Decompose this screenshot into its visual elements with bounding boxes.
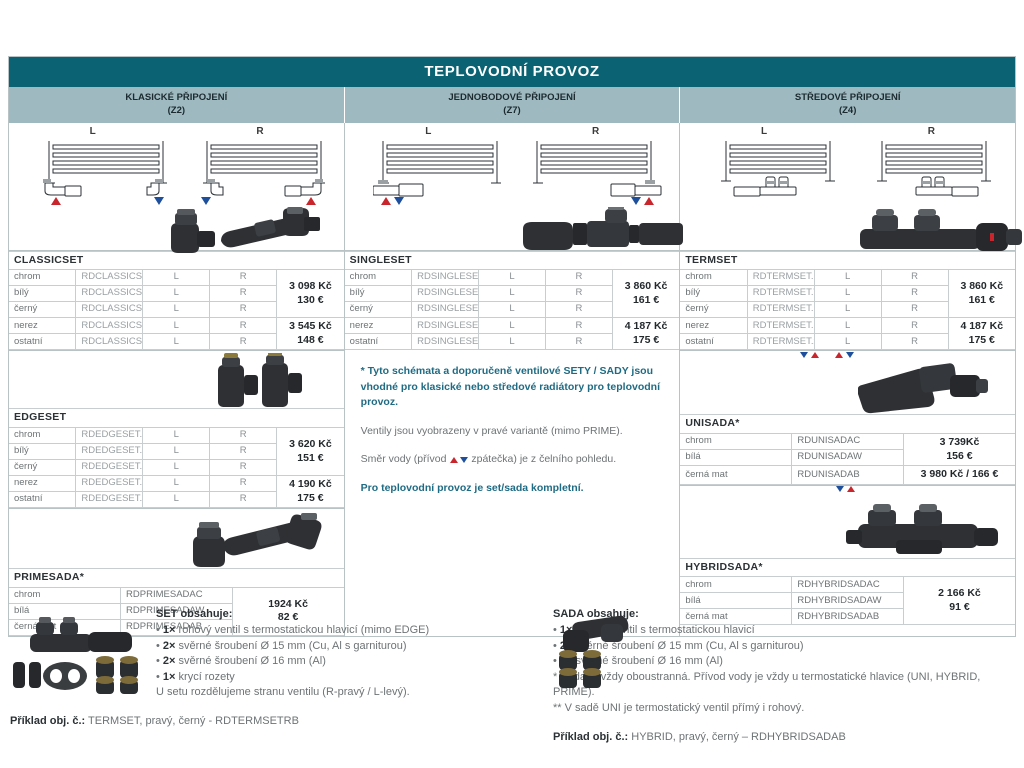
notes-block: * Tyto schémata a doporučeně ventilové S…	[345, 350, 680, 503]
row-color: černý	[9, 302, 76, 318]
column-classic: L R	[9, 123, 345, 636]
row-right: R	[210, 492, 277, 508]
row-code: RDUNISADAW	[792, 450, 904, 466]
item-text: rohový ventil s termostatickou hlavicí (…	[175, 624, 429, 636]
price-czk: 2 166 Kč	[938, 587, 981, 599]
product-photo-band-primesada	[9, 508, 344, 568]
row-color: nerez	[345, 318, 412, 334]
product-photo-classicset	[159, 207, 339, 260]
price-singleset-2: 4 187 Kč 175 €	[612, 318, 679, 350]
table-row: nerez RDEDGESET.SS L R 4 190 Kč 175 €	[9, 476, 344, 492]
column-header-central-label: STŘEDOVÉ PŘIPOJENÍ	[680, 92, 1015, 105]
row-color: nerez	[9, 476, 76, 492]
row-right: R	[545, 286, 612, 302]
triangle-up-red-icon	[811, 352, 819, 358]
row-color: chrom	[680, 270, 747, 286]
price-eur: 175 €	[969, 334, 995, 346]
row-color: ostatní	[9, 492, 76, 508]
row-right: R	[210, 286, 277, 302]
flow-arrows-hybridsada-top	[836, 486, 855, 492]
triangle-down-blue-icon	[631, 197, 641, 205]
flow-arrow-classic-left-return	[154, 197, 164, 205]
row-code: RDTERMSET.xx	[747, 334, 814, 350]
row-right: R	[210, 318, 277, 334]
row-color: bílý	[345, 286, 412, 302]
radiator-diagram-central-right	[872, 137, 997, 197]
main-table: TEPLOVODNÍ PROVOZ KLASICKÉ PŘIPOJENÍ (Z2…	[8, 56, 1016, 637]
schematic-central: L R	[680, 123, 1015, 251]
example-label: Příklad obj. č.:	[553, 731, 628, 743]
list-item: • 1× krycí rozety	[156, 670, 553, 686]
triangle-down-blue-icon	[154, 197, 164, 205]
row-right: R	[545, 318, 612, 334]
price-table-edgeset: EDGESET chrom RDEDGESET.C L R 3 620 Kč 1…	[9, 408, 344, 508]
row-code: RDCLASSICSET.SS	[76, 318, 143, 334]
flow-arrows-single-right	[631, 197, 654, 205]
footer-set-title: SET obsahuje:	[156, 608, 553, 620]
column-header-single-code: (Z7)	[345, 105, 680, 118]
product-photo-primesada	[187, 513, 327, 574]
price-edgeset-1: 3 620 Kč 151 €	[277, 428, 344, 476]
note-final: Pro teplovodní provoz je set/sada komple…	[361, 481, 666, 496]
column-single: L R	[345, 123, 681, 636]
price-sheet-page: TEPLOVODNÍ PROVOZ KLASICKÉ PŘIPOJENÍ (Z2…	[0, 0, 1024, 768]
row-left: L	[814, 334, 881, 350]
price-czk: 3 098 Kč	[289, 280, 332, 292]
price-table-classicset: CLASSICSET chrom RDCLASSICSET.C L R 3 09…	[9, 251, 344, 351]
row-left: L	[814, 302, 881, 318]
page-title: TEPLOVODNÍ PROVOZ	[9, 57, 1015, 87]
table-row: nerez RDCLASSICSET.SS L R 3 545 Kč 148 €	[9, 318, 344, 334]
table-row: chrom RDSINGLESET.C L R 3 860 Kč 161 €	[345, 270, 680, 286]
price-czk: 3 739Kč	[940, 436, 980, 448]
triangle-up-red-icon	[51, 197, 61, 205]
price-czk: 4 187 Kč	[625, 320, 668, 332]
item-text: svěrné šroubení Ø 15 mm (Cu, Al s garnit…	[175, 640, 406, 652]
row-right: R	[881, 286, 948, 302]
row-code: RDSINGLESET.B	[412, 302, 479, 318]
row-code: RDCLASSICSET.W	[76, 286, 143, 302]
triangle-down-blue-icon	[846, 352, 854, 358]
triangle-down-blue-icon	[460, 457, 468, 463]
row-color: nerez	[9, 318, 76, 334]
item-text: krycí rozety	[175, 671, 234, 683]
product-photo-edgeset	[204, 353, 314, 416]
footer-set-example: Příklad obj. č.: TERMSET, pravý, černý -…	[10, 715, 553, 727]
note-flow-direction-suffix: zpátečka) je z čelního pohledu.	[471, 453, 616, 465]
schematic-single-left-label: L	[345, 126, 512, 137]
radiator-diagram-classic-right	[197, 137, 327, 199]
row-code: RDEDGESET.B	[76, 460, 143, 476]
row-left: L	[814, 318, 881, 334]
footer-set-list: • 1× rohový ventil s termostatickou hlav…	[156, 623, 553, 701]
note-flow-direction: Směr vody (přívod zpátečka) je z čelního…	[361, 452, 666, 467]
row-code: RDCLASSICSET.xx	[76, 334, 143, 350]
row-right: R	[210, 444, 277, 460]
radiator-diagram-single-right	[527, 137, 663, 197]
price-edgeset-2: 4 190 Kč 175 €	[277, 476, 344, 508]
product-photo-hybridsada	[840, 500, 1000, 563]
table-row: nerez RDTERMSET.SS L R 4 187 Kč 175 €	[680, 318, 1015, 334]
footer-sada-note2: ** V sadě UNI je termostatický ventil př…	[553, 701, 1016, 717]
row-color: ostatní	[345, 334, 412, 350]
column-header-classic: KLASICKÉ PŘIPOJENÍ (Z2)	[9, 87, 345, 123]
price-czk: 4 187 Kč	[960, 320, 1003, 332]
price-classicset-2: 3 545 Kč 148 €	[277, 318, 344, 350]
price-unisada-black: 3 980 Kč / 166 €	[903, 466, 1015, 485]
row-right: R	[210, 460, 277, 476]
footer-set-tail: U setu rozdělujeme stranu ventilu (R-pra…	[156, 685, 553, 701]
price-termset-1: 3 860 Kč 161 €	[948, 270, 1015, 318]
item-qty: 2×	[163, 655, 176, 667]
list-item: • 2× svěrné šroubení Ø 15 mm (Cu, Al s g…	[156, 639, 553, 655]
footer-columns: SET obsahuje: • 1× rohový ventil s termo…	[8, 608, 1016, 743]
table-row: chrom RDCLASSICSET.C L R 3 098 Kč 130 €	[9, 270, 344, 286]
schematic-central-left-label: L	[680, 126, 847, 137]
radiator-diagram-single-left	[373, 137, 503, 197]
row-color: bílý	[9, 444, 76, 460]
row-code: RDTERMSET.SS	[747, 318, 814, 334]
row-code: RDUNISADAC	[792, 434, 904, 450]
row-color: černá mat	[680, 466, 792, 485]
row-right: R	[545, 334, 612, 350]
table-row: nerez RDSINGLESET.SS L R 4 187 Kč 175 €	[345, 318, 680, 334]
row-color: chrom	[680, 434, 792, 450]
price-eur: 151 €	[297, 452, 323, 464]
price-czk: 3 545 Kč	[289, 320, 332, 332]
schematic-single: L R	[345, 123, 680, 251]
row-code: RDCLASSICSET.B	[76, 302, 143, 318]
footer-set-text: SET obsahuje: • 1× rohový ventil s termo…	[156, 608, 553, 701]
triangle-down-blue-icon	[836, 486, 844, 492]
row-code: RDSINGLESET.W	[412, 286, 479, 302]
row-code: RDUNISADAB	[792, 466, 904, 485]
price-czk: 4 190 Kč	[289, 478, 332, 490]
row-right: R	[545, 270, 612, 286]
row-color: chrom	[9, 428, 76, 444]
item-qty: 1×	[163, 624, 176, 636]
schematic-single-right-label: R	[512, 126, 679, 137]
row-left: L	[479, 302, 546, 318]
price-unisada: 3 739Kč 156 €	[903, 434, 1015, 466]
price-eur: 156 €	[946, 450, 972, 462]
column-header-classic-code: (Z2)	[9, 105, 344, 118]
row-color: chrom	[680, 577, 792, 593]
row-color: ostatní	[680, 334, 747, 350]
row-color: bílá	[680, 450, 792, 466]
price-termset-2: 4 187 Kč 175 €	[948, 318, 1015, 350]
product-photo-footer-set	[10, 610, 148, 701]
table-row: chrom RDPRIMESADAC 1924 Kč 82 €	[9, 587, 344, 603]
footer-sada-example: Příklad obj. č.: HYBRID, pravý, černý – …	[553, 731, 1016, 743]
footer-sada: SADA obsahuje: • 1× rohový ventil s term…	[553, 608, 1016, 743]
row-code: RDEDGESET.C	[76, 428, 143, 444]
triangle-up-red-icon	[644, 197, 654, 205]
row-color: bílá	[680, 593, 792, 609]
row-right: R	[881, 270, 948, 286]
row-left: L	[143, 460, 210, 476]
row-right: R	[881, 302, 948, 318]
flow-arrow-classic-left-supply	[51, 197, 61, 205]
row-right: R	[881, 318, 948, 334]
row-left: L	[143, 286, 210, 302]
product-photo-band-hybridsada	[680, 485, 1015, 558]
row-left: L	[814, 286, 881, 302]
radiator-diagram-central-left	[716, 137, 841, 197]
row-code: RDSINGLESET.SS	[412, 318, 479, 334]
row-code: RDTERMSET.B	[747, 302, 814, 318]
item-qty: 1×	[163, 671, 176, 683]
column-header-single-label: JEDNOBODOVÉ PŘIPOJENÍ	[345, 92, 680, 105]
price-table-unisada: UNISADA* chrom RDUNISADAC 3 739Kč 156 € …	[680, 414, 1015, 484]
item-qty: 2×	[163, 640, 176, 652]
price-classicset-1: 3 098 Kč 130 €	[277, 270, 344, 318]
price-eur: 175 €	[297, 492, 323, 504]
row-code: RDTERMSET.W	[747, 286, 814, 302]
price-eur: 161 €	[969, 294, 995, 306]
row-code: RDSINGLESET.xx	[412, 334, 479, 350]
triangle-down-blue-icon	[800, 352, 808, 358]
list-item: • 1× rohový ventil s termostatickou hlav…	[156, 623, 553, 639]
flow-arrows-unisada-left	[800, 352, 819, 358]
product-photo-footer-sada	[553, 614, 641, 697]
row-color: bílý	[680, 286, 747, 302]
row-left: L	[479, 334, 546, 350]
table-row: chrom RDUNISADAC 3 739Kč 156 €	[680, 434, 1015, 450]
radiator-diagram-classic-left	[39, 137, 169, 199]
row-code: RDTERMSET.C	[747, 270, 814, 286]
column-header-central: STŘEDOVÉ PŘIPOJENÍ (Z4)	[680, 87, 1015, 123]
price-eur: 161 €	[633, 294, 659, 306]
row-code: RDEDGESET.xx	[76, 492, 143, 508]
price-czk: 3 860 Kč	[625, 280, 668, 292]
row-color: ostatní	[9, 334, 76, 350]
row-left: L	[479, 286, 546, 302]
column-central: L R	[680, 123, 1015, 636]
row-color: chrom	[9, 270, 76, 286]
table-row: chrom RDTERMSET.C L R 3 860 Kč 161 €	[680, 270, 1015, 286]
price-eur: 148 €	[297, 334, 323, 346]
price-table-termset: TERMSET chrom RDTERMSET.C L R 3 860 Kč 1…	[680, 251, 1015, 351]
row-right: R	[210, 476, 277, 492]
footer: SET obsahuje: • 1× rohový ventil s termo…	[8, 608, 1016, 743]
row-left: L	[143, 302, 210, 318]
column-headers: KLASICKÉ PŘIPOJENÍ (Z2) JEDNOBODOVÉ PŘIP…	[9, 87, 1015, 123]
price-czk: 3 860 Kč	[960, 280, 1003, 292]
price-eur: 175 €	[633, 334, 659, 346]
row-code: RDHYBRIDSADAC	[792, 577, 904, 593]
column-header-classic-label: KLASICKÉ PŘIPOJENÍ	[9, 92, 344, 105]
row-left: L	[143, 318, 210, 334]
schematic-central-right-label: R	[848, 126, 1015, 137]
row-code: RDHYBRIDSADAW	[792, 593, 904, 609]
row-code: RDEDGESET.W	[76, 444, 143, 460]
row-color: nerez	[680, 318, 747, 334]
row-left: L	[143, 476, 210, 492]
row-color: chrom	[345, 270, 412, 286]
row-color: černý	[345, 302, 412, 318]
product-photo-band-edgeset	[9, 350, 344, 408]
price-singleset-1: 3 860 Kč 161 €	[612, 270, 679, 318]
row-right: R	[210, 302, 277, 318]
flow-arrow-classic-right-supply	[306, 197, 316, 205]
row-left: L	[143, 334, 210, 350]
row-color: chrom	[9, 587, 121, 603]
price-table-singleset: SINGLESET chrom RDSINGLESET.C L R 3 860 …	[345, 251, 680, 351]
row-right: R	[881, 334, 948, 350]
flow-arrows-single-left	[381, 197, 404, 205]
row-left: L	[479, 270, 546, 286]
example-label: Příklad obj. č.:	[10, 715, 85, 727]
row-left: L	[143, 492, 210, 508]
column-header-central-code: (Z4)	[680, 105, 1015, 118]
schematic-classic: L R	[9, 123, 344, 251]
row-right: R	[210, 270, 277, 286]
note-valves: Ventily jsou vyobrazeny v pravé variantě…	[361, 424, 666, 439]
product-photo-band-unisada	[680, 350, 1015, 414]
row-code: RDEDGESET.SS	[76, 476, 143, 492]
footer-set: SET obsahuje: • 1× rohový ventil s termo…	[8, 608, 553, 743]
list-item: • 2× svěrné šroubení Ø 16 mm (Al)	[156, 654, 553, 670]
table-row: chrom RDHYBRIDSADAC 2 166 Kč 91 €	[680, 577, 1015, 593]
row-left: L	[143, 428, 210, 444]
product-photo-unisada	[858, 361, 988, 420]
example-text: TERMSET, pravý, černý - RDTERMSETRB	[85, 715, 299, 727]
row-code: RDSINGLESET.C	[412, 270, 479, 286]
flow-arrow-classic-right-return	[201, 197, 211, 205]
flow-arrows-unisada-right	[835, 352, 854, 358]
triangle-down-blue-icon	[201, 197, 211, 205]
triangle-down-blue-icon	[394, 197, 404, 205]
row-code: RDPRIMESADAC	[121, 587, 233, 603]
product-photo-termset	[850, 207, 1024, 260]
row-left: L	[814, 270, 881, 286]
row-color: černý	[9, 460, 76, 476]
row-code: RDCLASSICSET.C	[76, 270, 143, 286]
triangle-up-red-icon	[306, 197, 316, 205]
row-right: R	[545, 302, 612, 318]
table-row: černá mat RDUNISADAB 3 980 Kč / 166 €	[680, 466, 1015, 485]
columns-container: L R	[9, 123, 1015, 636]
product-photo-singleset	[523, 207, 693, 260]
table-row: chrom RDEDGESET.C L R 3 620 Kč 151 €	[9, 428, 344, 444]
price-czk: 3 620 Kč	[289, 438, 332, 450]
row-left: L	[479, 318, 546, 334]
row-left: L	[143, 270, 210, 286]
row-right: R	[210, 334, 277, 350]
example-text: HYBRID, pravý, černý – RDHYBRIDSADAB	[628, 731, 846, 743]
price-eur: 130 €	[297, 294, 323, 306]
column-header-single: JEDNOBODOVÉ PŘIPOJENÍ (Z7)	[345, 87, 681, 123]
row-color: černý	[680, 302, 747, 318]
triangle-up-red-icon	[847, 486, 855, 492]
note-flow-direction-prefix: Směr vody (přívod	[361, 453, 447, 465]
row-color: bílý	[9, 286, 76, 302]
schematic-classic-left-label: L	[9, 126, 176, 137]
triangle-up-red-icon	[450, 457, 458, 463]
row-right: R	[210, 428, 277, 444]
triangle-up-red-icon	[835, 352, 843, 358]
row-left: L	[143, 444, 210, 460]
triangle-up-red-icon	[381, 197, 391, 205]
item-text: svěrné šroubení Ø 16 mm (Al)	[175, 655, 325, 667]
note-star: * Tyto schémata a doporučeně ventilové S…	[361, 364, 666, 410]
schematic-classic-right-label: R	[176, 126, 343, 137]
